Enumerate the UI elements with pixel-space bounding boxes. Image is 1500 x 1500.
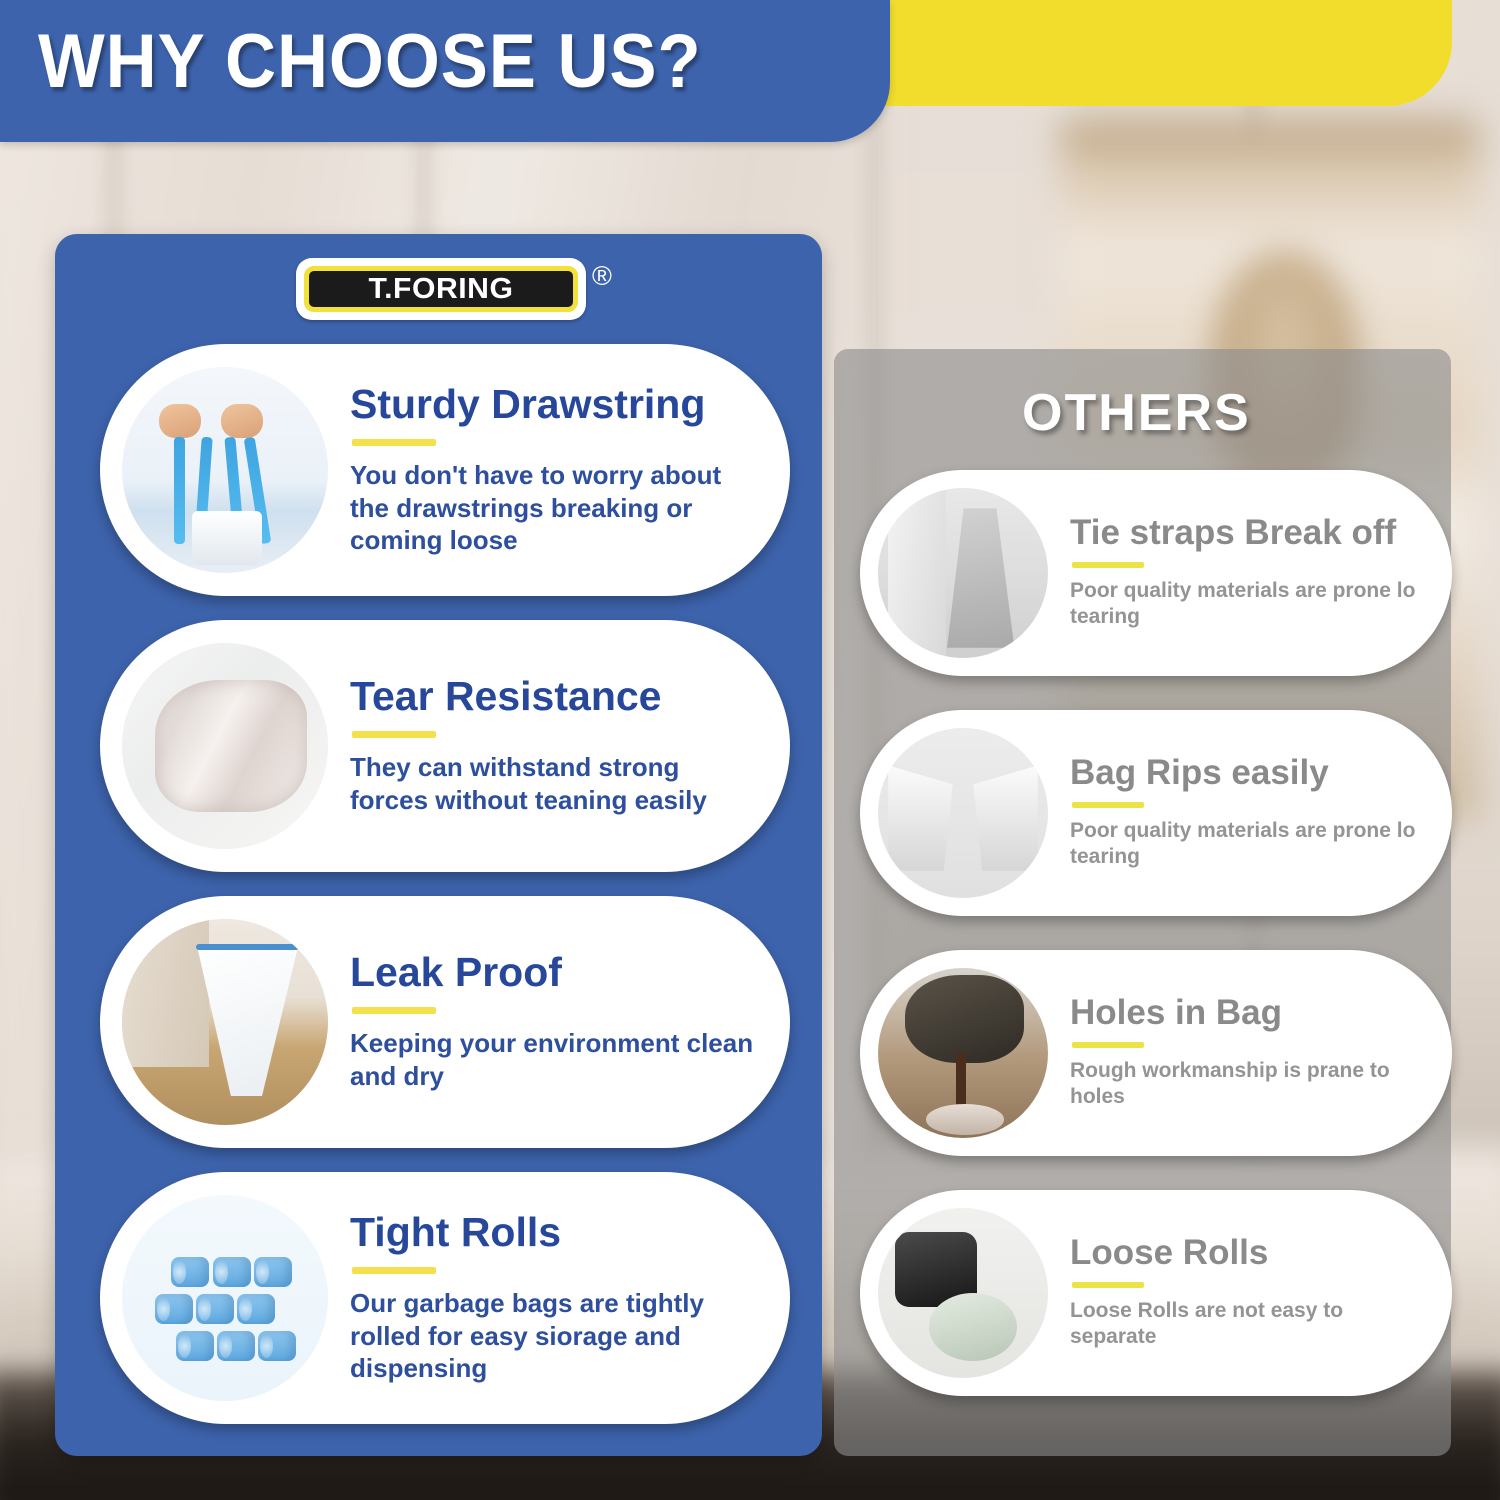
- title-underline: [352, 439, 436, 446]
- drawback-text: Loose Rolls Loose Rolls are not easy to …: [1048, 1235, 1452, 1351]
- drawback-title: Loose Rolls: [1070, 1235, 1434, 1272]
- brand-logo: T.FORING ®: [296, 255, 626, 327]
- others-heading: OTHERS: [1022, 383, 1251, 443]
- feature-thumbnail: [122, 1195, 328, 1401]
- title-underline: [352, 1267, 436, 1274]
- drawback-thumbnail: [878, 728, 1048, 898]
- drawback-card[interactable]: Tie straps Break off Poor quality materi…: [860, 470, 1452, 676]
- feature-description: Keeping your environment clean and dry: [350, 1027, 764, 1093]
- feature-card[interactable]: Sturdy Drawstring You don't have to worr…: [100, 344, 790, 596]
- feature-title: Tear Resistance: [350, 675, 764, 718]
- logo-plate: T.FORING: [296, 258, 586, 320]
- feature-text: Leak Proof Keeping your environment clea…: [328, 951, 790, 1093]
- logo-text: T.FORING: [290, 258, 592, 320]
- drawback-title: Tie straps Break off: [1070, 515, 1434, 552]
- title-underline: [1072, 562, 1144, 568]
- drawback-title: Bag Rips easily: [1070, 755, 1434, 792]
- feature-card[interactable]: Tear Resistance They can withstand stron…: [100, 620, 790, 872]
- feature-text: Tight Rolls Our garbage bags are tightly…: [328, 1211, 790, 1385]
- feature-description: You don't have to worry about the drawst…: [350, 459, 764, 557]
- drawback-text: Bag Rips easily Poor quality materials a…: [1048, 755, 1452, 871]
- title-underline: [1072, 1282, 1144, 1288]
- drawback-description: Rough workmanship is prane to holes: [1070, 1058, 1434, 1111]
- drawback-description: Poor quality materials are prone lo tear…: [1070, 578, 1434, 631]
- feature-thumbnail: [122, 643, 328, 849]
- registered-trademark-icon: ®: [592, 261, 612, 292]
- feature-card[interactable]: Leak Proof Keeping your environment clea…: [100, 896, 790, 1148]
- drawback-thumbnail: [878, 1208, 1048, 1378]
- title-underline: [352, 731, 436, 738]
- feature-card[interactable]: Tight Rolls Our garbage bags are tightly…: [100, 1172, 790, 1424]
- title-underline: [352, 1007, 436, 1014]
- title-underline: [1072, 1042, 1144, 1048]
- feature-description: They can withstand strong forces without…: [350, 751, 764, 817]
- title-underline: [1072, 802, 1144, 808]
- drawback-description: Poor quality materials are prone lo tear…: [1070, 818, 1434, 871]
- drawback-text: Holes in Bag Rough workmanship is prane …: [1048, 995, 1452, 1111]
- drawback-thumbnail: [878, 488, 1048, 658]
- feature-title: Sturdy Drawstring: [350, 383, 764, 426]
- drawback-card[interactable]: Bag Rips easily Poor quality materials a…: [860, 710, 1452, 916]
- feature-description: Our garbage bags are tightly rolled for …: [350, 1287, 764, 1385]
- feature-title: Leak Proof: [350, 951, 764, 994]
- drawback-description: Loose Rolls are not easy to separate: [1070, 1298, 1434, 1351]
- drawback-title: Holes in Bag: [1070, 995, 1434, 1032]
- feature-thumbnail: [122, 919, 328, 1125]
- drawback-card[interactable]: Holes in Bag Rough workmanship is prane …: [860, 950, 1452, 1156]
- page-title: WHY CHOOSE US?: [38, 18, 702, 105]
- drawback-card[interactable]: Loose Rolls Loose Rolls are not easy to …: [860, 1190, 1452, 1396]
- feature-text: Tear Resistance They can withstand stron…: [328, 675, 790, 817]
- drawback-text: Tie straps Break off Poor quality materi…: [1048, 515, 1452, 631]
- feature-thumbnail: [122, 367, 328, 573]
- drawback-thumbnail: [878, 968, 1048, 1138]
- header-banner: WHY CHOOSE US?: [0, 0, 890, 142]
- feature-title: Tight Rolls: [350, 1211, 764, 1254]
- feature-text: Sturdy Drawstring You don't have to worr…: [328, 383, 790, 557]
